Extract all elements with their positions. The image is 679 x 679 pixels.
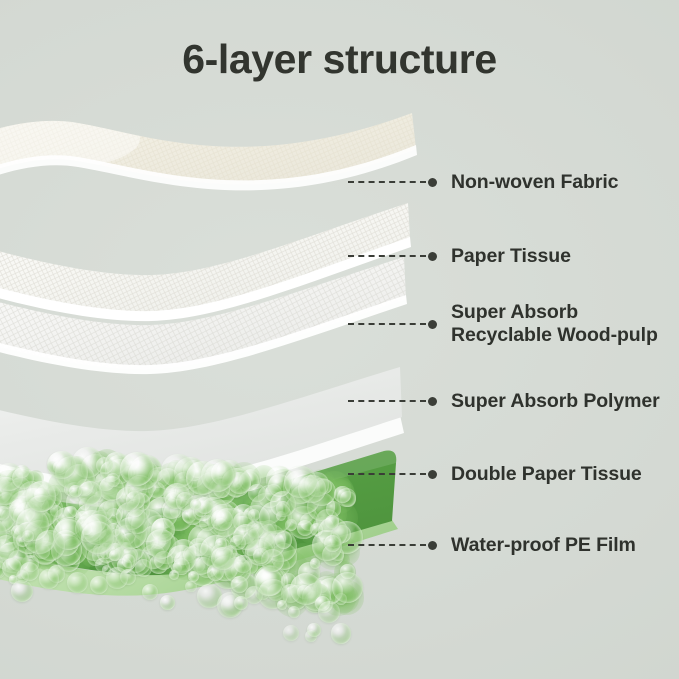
- bullet-dot-icon: [428, 178, 437, 187]
- bullet-dot-icon: [428, 397, 437, 406]
- dashed-line-icon: [348, 181, 426, 183]
- callout-label: Super Absorb Polymer: [451, 390, 660, 413]
- bullet-dot-icon: [428, 470, 437, 479]
- dashed-line-icon: [348, 544, 426, 546]
- layer-illustration-non-woven-fabric: [0, 109, 430, 329]
- callout-label: Water-proof PE Film: [451, 534, 636, 557]
- dashed-line-icon: [348, 255, 426, 257]
- bullet-dot-icon: [428, 541, 437, 550]
- page-title: 6-layer structure: [0, 36, 679, 83]
- callout-label: Super Absorb Recyclable Wood-pulp: [451, 301, 658, 347]
- bullet-dot-icon: [428, 252, 437, 261]
- infographic-canvas: 6-layer structure: [0, 0, 679, 679]
- dashed-line-icon: [348, 323, 426, 325]
- bullet-dot-icon: [428, 320, 437, 329]
- callout-label: Paper Tissue: [451, 245, 571, 268]
- dashed-line-icon: [348, 400, 426, 402]
- callout-label: Non-woven Fabric: [451, 171, 618, 194]
- callout-label: Double Paper Tissue: [451, 463, 642, 486]
- dashed-line-icon: [348, 473, 426, 475]
